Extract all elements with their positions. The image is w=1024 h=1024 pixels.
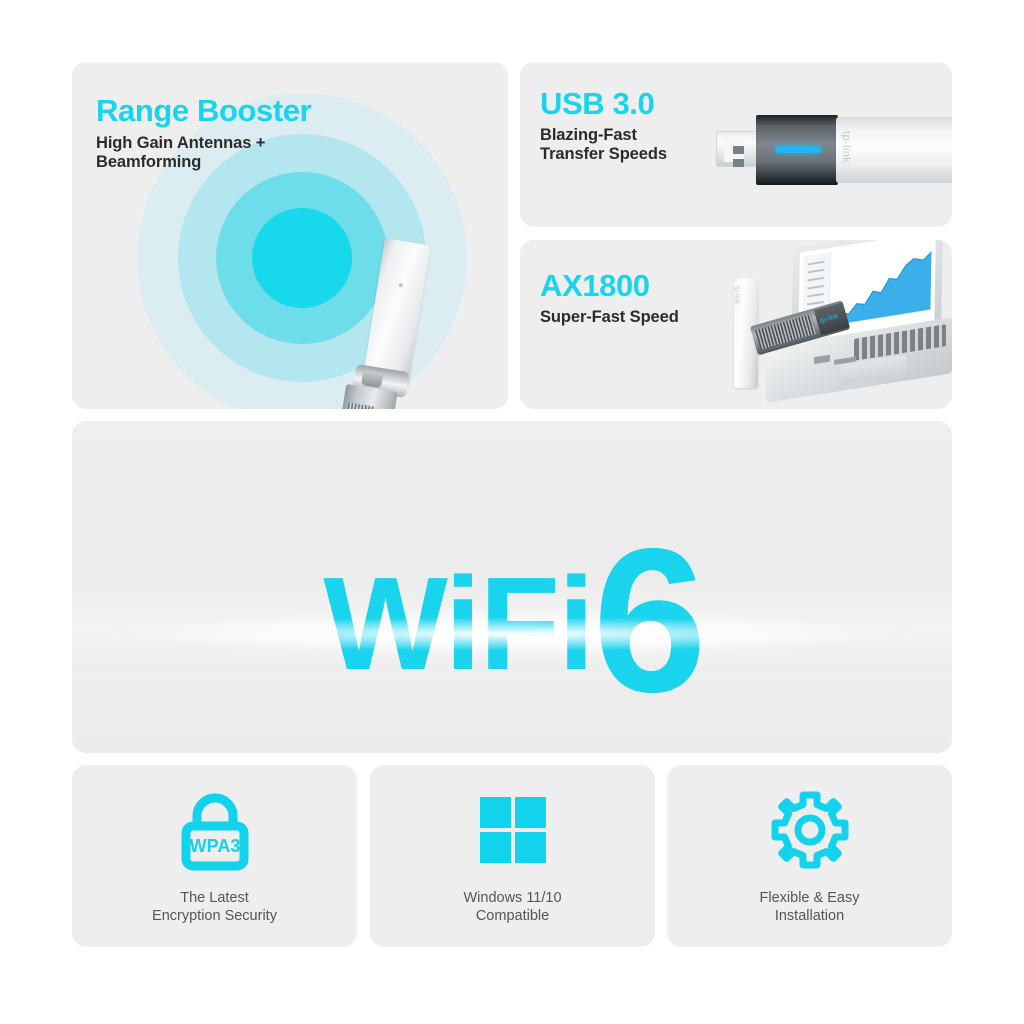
laptop-with-adapter-image: tp-link tp-link <box>730 240 952 409</box>
tp-link-logo: tp-link <box>733 286 740 305</box>
usb-plug-inner <box>724 138 744 162</box>
hero-card-wifi6: WiFi6 WiFi6 <box>72 421 952 753</box>
range-booster-text-block: Range Booster High Gain Antennas + Beamf… <box>96 95 311 172</box>
usb-subline-1: Blazing-Fast <box>540 126 667 145</box>
wpa3-caption: The Latest Encryption Security <box>152 889 277 925</box>
gear-icon <box>769 787 851 873</box>
feature-card-installation: Flexible & Easy Installation <box>667 765 952 947</box>
usb-text-block: USB 3.0 Blazing-Fast Transfer Speeds <box>540 88 667 164</box>
usb-headline: USB 3.0 <box>540 88 667 119</box>
wifi6-logo: WiFi6 <box>72 496 952 701</box>
adapter-hinge-notch <box>361 370 383 388</box>
adapter-vent-grille <box>338 402 375 409</box>
wifi6-number: 6 <box>593 506 701 735</box>
ax1800-subline-1: Super-Fast Speed <box>540 308 679 327</box>
usb-connector-plug <box>716 131 758 167</box>
ax1800-text-block: AX1800 Super-Fast Speed <box>540 270 679 327</box>
range-booster-headline: Range Booster <box>96 95 311 126</box>
usb-led-indicator <box>775 146 821 153</box>
sidebar-row <box>807 269 824 274</box>
ax-vent-grille <box>755 314 816 349</box>
usb-contact-pad <box>733 146 744 154</box>
range-booster-subline-1: High Gain Antennas + <box>96 134 311 153</box>
wpa3-lock-icon: WPA3 <box>172 787 258 873</box>
installation-caption-line1: Flexible & Easy <box>760 889 860 907</box>
usb-contact-pad <box>733 159 744 167</box>
usb-adapter-stick-image: tp-link <box>716 115 952 185</box>
ax-adapter-body: tp-link <box>750 300 851 355</box>
feature-card-range-booster: Range Booster High Gain Antennas + Beamf… <box>72 62 508 409</box>
windows-logo-icon <box>478 787 548 873</box>
adapter-panel-dot <box>399 283 404 288</box>
installation-caption-line2: Installation <box>760 907 860 925</box>
wpa3-badge-text: WPA3 <box>189 836 240 856</box>
installation-caption: Flexible & Easy Installation <box>760 889 860 925</box>
usb-light-body: tp-link <box>836 117 952 183</box>
wpa3-caption-line2: Encryption Security <box>152 907 277 925</box>
wifi6-word: WiFi <box>323 550 592 697</box>
feature-card-wpa3: WPA3 The Latest Encryption Security <box>72 765 357 947</box>
sidebar-row <box>808 261 825 266</box>
tp-link-logo: tp-link <box>840 131 852 163</box>
usb-dark-housing <box>756 115 838 185</box>
infographic-page: Range Booster High Gain Antennas + Beamf… <box>0 0 1024 1024</box>
wpa3-caption-line1: The Latest <box>152 889 277 907</box>
windows-caption-line2: Compatible <box>463 907 561 925</box>
tp-link-logo-cyan: tp-link <box>819 313 839 325</box>
ax1800-adapter-image: tp-link tp-link <box>730 278 860 396</box>
ax1800-headline: AX1800 <box>540 270 679 301</box>
ax-connector-head: tp-link <box>814 302 850 335</box>
windows-caption-line1: Windows 11/10 <box>463 889 561 907</box>
windows-caption: Windows 11/10 Compatible <box>463 889 561 925</box>
wifi6-logo-wrap: WiFi6 WiFi6 <box>72 421 952 753</box>
usb-adapter-antenna-image <box>310 240 440 409</box>
feature-card-windows: Windows 11/10 Compatible <box>370 765 655 947</box>
feature-card-ax1800: tp-link tp-link AX1800 Super-Fast Speed <box>520 240 952 409</box>
range-booster-subline-2: Beamforming <box>96 153 311 172</box>
usb-subline-2: Transfer Speeds <box>540 145 667 164</box>
feature-card-usb-30: tp-link USB 3.0 Blazing-Fast Transfer Sp… <box>520 62 952 227</box>
